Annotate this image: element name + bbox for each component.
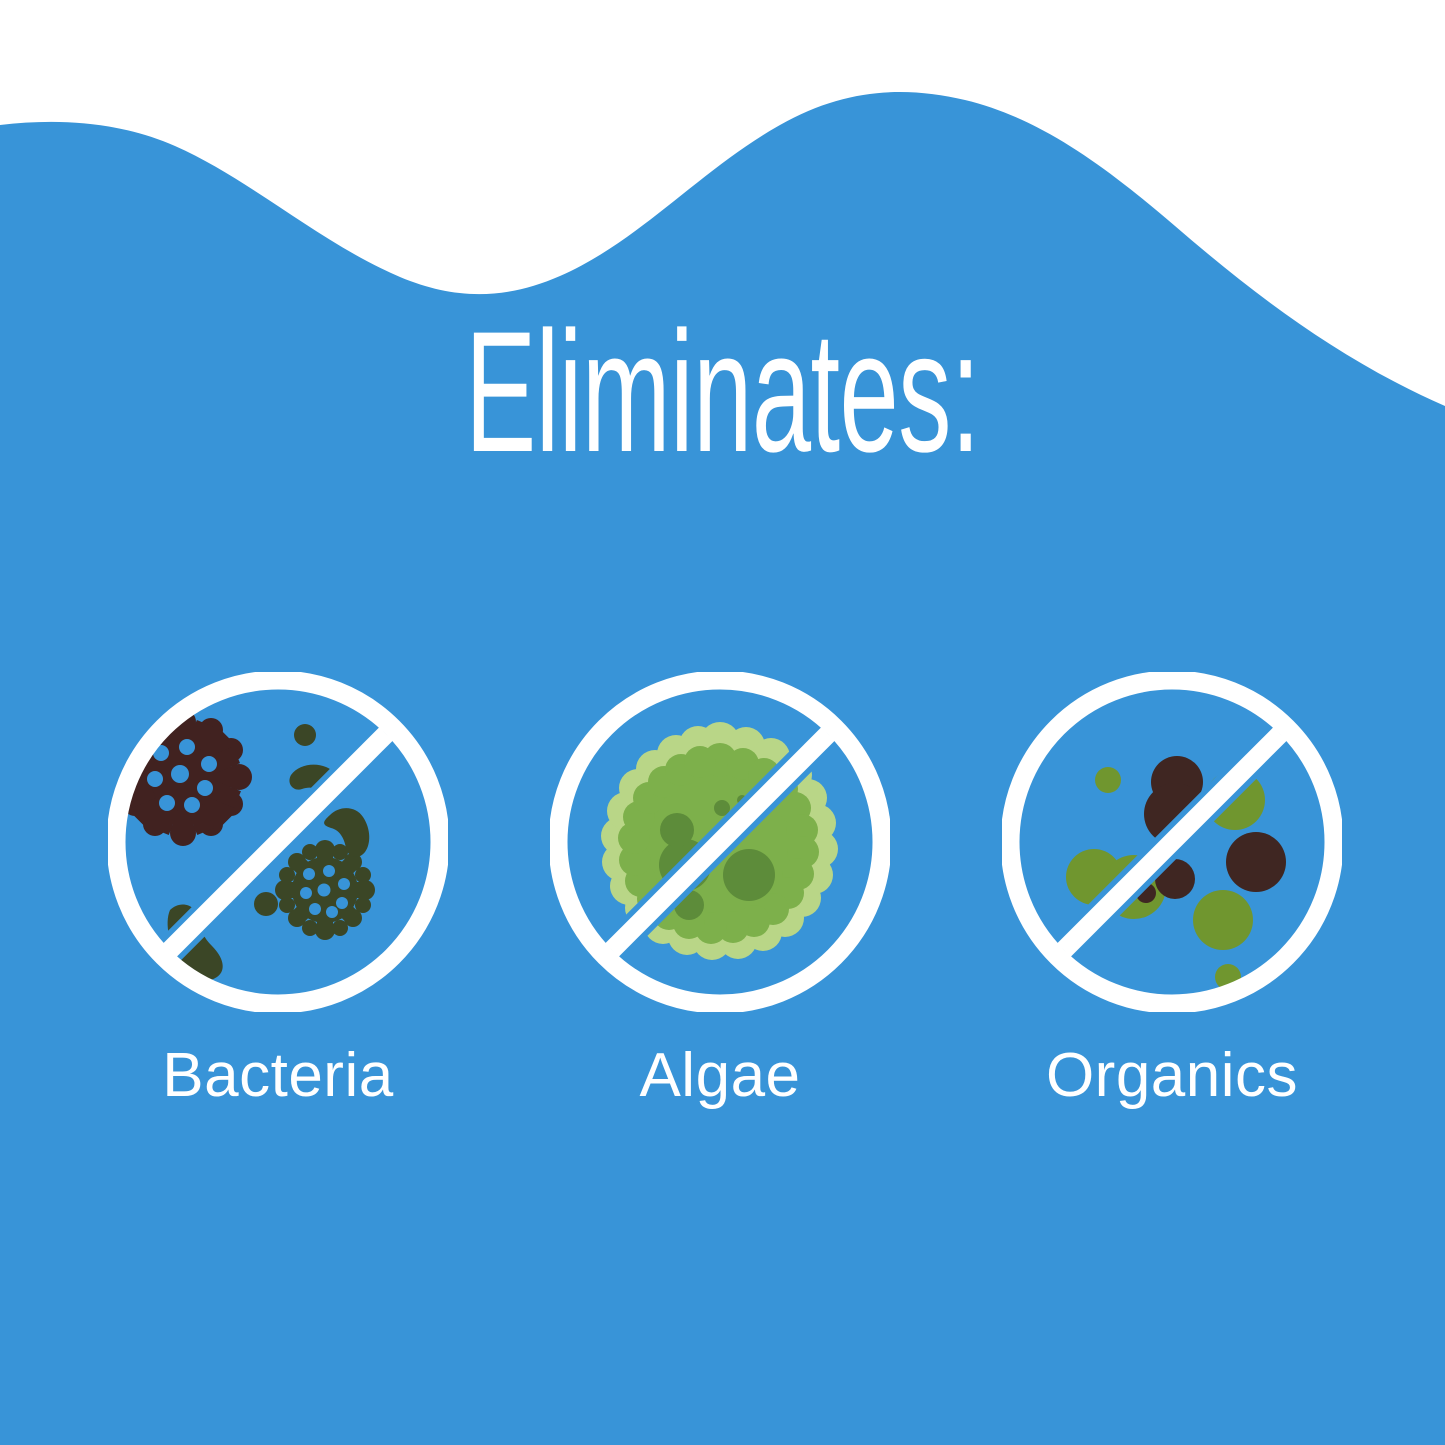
eliminates-infographic: Eliminates: <box>0 0 1445 1445</box>
item-label-bacteria: Bacteria <box>78 1040 478 1112</box>
organic-brown-blobs <box>1136 756 1286 903</box>
eliminates-item-algae[interactable]: Algae <box>520 660 920 1160</box>
eliminates-item-bacteria[interactable]: Bacteria <box>78 660 478 1160</box>
item-label-organics: Organics <box>972 1040 1372 1112</box>
eliminates-item-organics[interactable]: Organics <box>972 660 1372 1160</box>
eliminates-items-row: Bacteria <box>0 660 1445 1160</box>
item-label-algae: Algae <box>520 1040 920 1112</box>
page-title: Eliminates: <box>275 306 1171 478</box>
no-organics-icon <box>1002 672 1342 1012</box>
no-algae-icon <box>550 672 890 1012</box>
no-bacteria-icon <box>108 672 448 1012</box>
